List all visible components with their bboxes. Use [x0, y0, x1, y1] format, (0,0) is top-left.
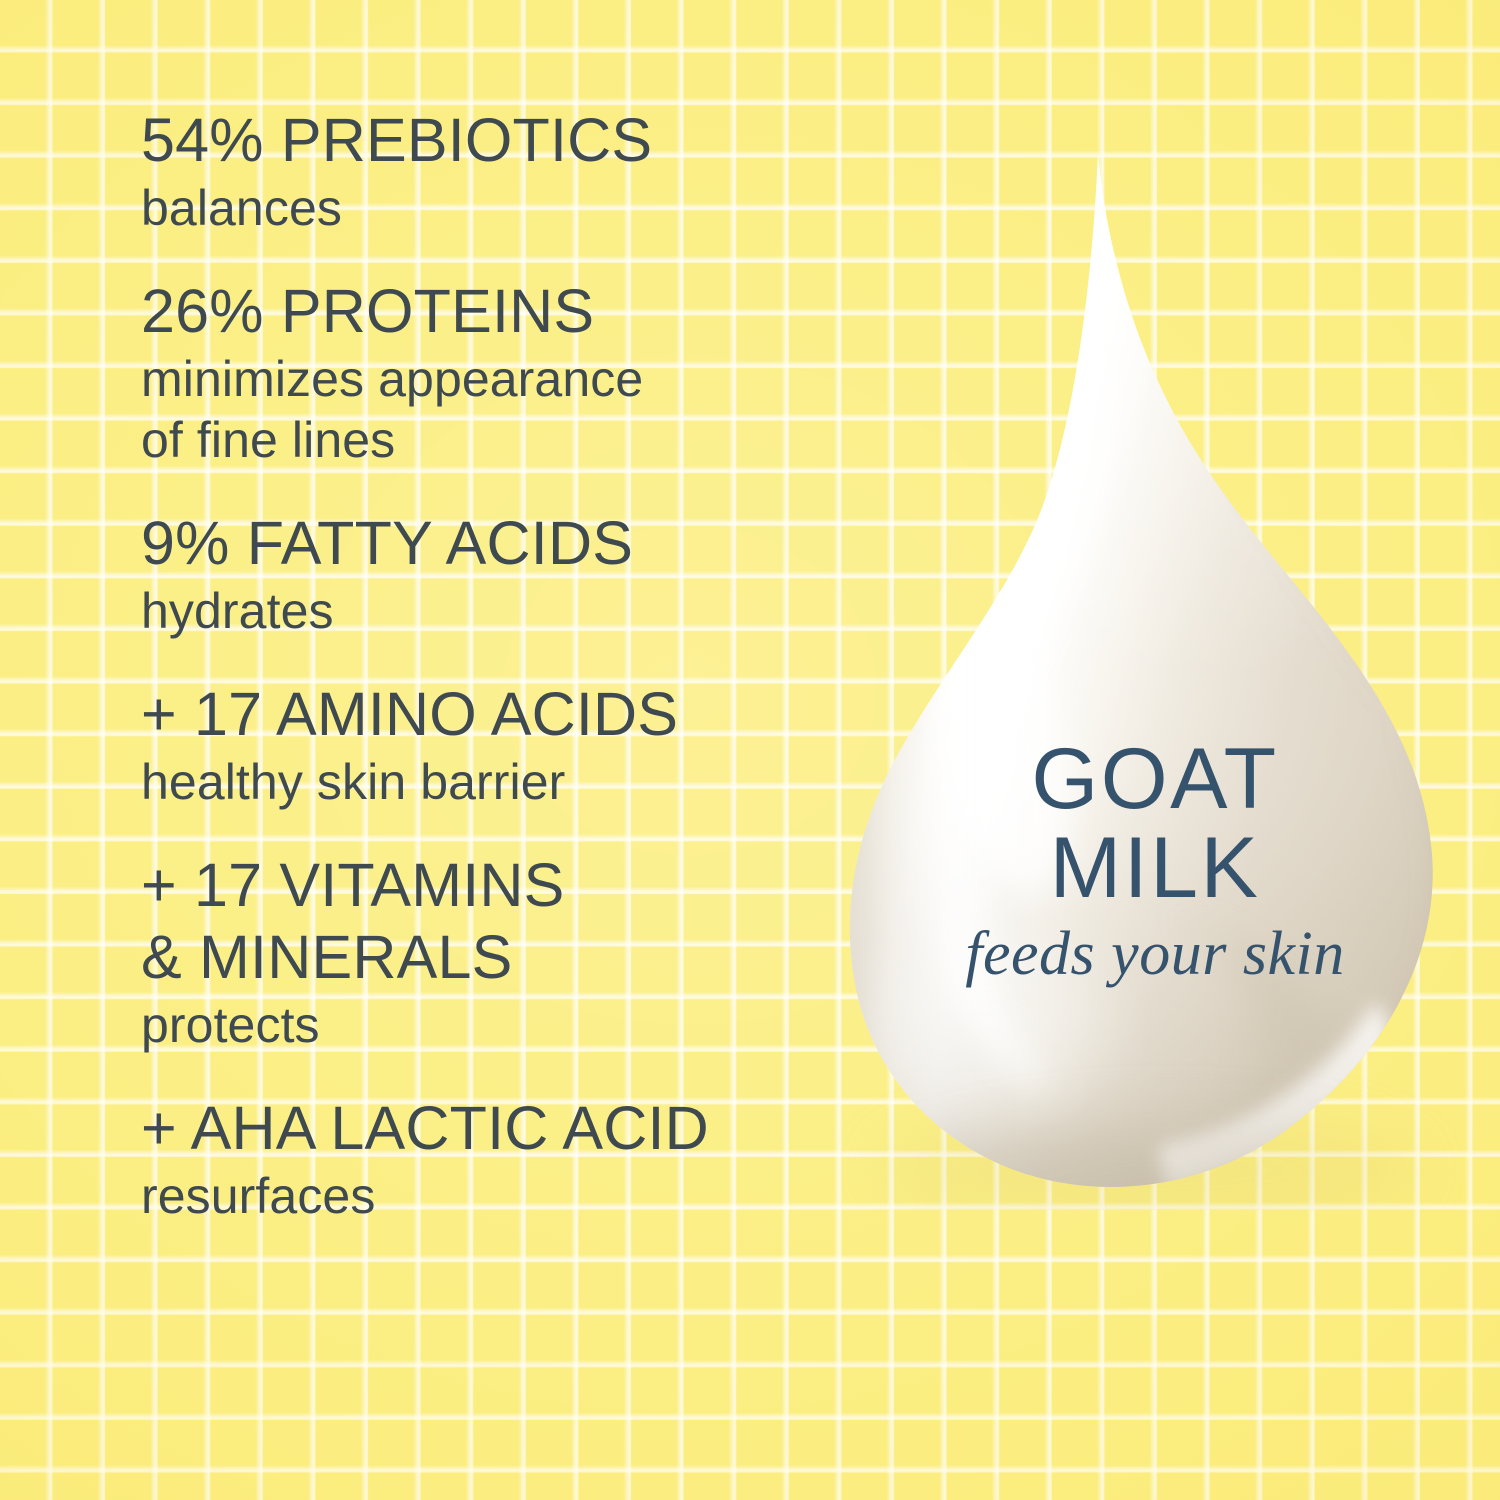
ingredient-benefit: resurfaces: [141, 1164, 841, 1227]
ingredient-headline: 54% PREBIOTICS: [141, 104, 841, 176]
ingredient-benefit: balances: [141, 176, 841, 239]
ingredient-headline: + 17 VITAMINS & MINERALS: [141, 849, 841, 993]
ingredient-item-proteins: 26% PROTEINS minimizes appearance of fin…: [141, 275, 841, 471]
ingredient-benefit: minimizes appearance of fine lines: [141, 347, 841, 471]
milk-droplet-icon: [836, 140, 1461, 1210]
ingredient-item-fatty-acids: 9% FATTY ACIDS hydrates: [141, 507, 841, 642]
goat-milk-ingredient-infographic: 54% PREBIOTICS balances 26% PROTEINS min…: [0, 0, 1500, 1500]
ingredient-item-amino-acids: + 17 AMINO ACIDS healthy skin barrier: [141, 678, 841, 813]
milk-droplet-illustration: [836, 140, 1461, 1210]
ingredient-headline: + 17 AMINO ACIDS: [141, 678, 841, 750]
droplet-left-edge-shade: [836, 580, 956, 1210]
ingredient-item-prebiotics: 54% PREBIOTICS balances: [141, 104, 841, 239]
ingredient-list: 54% PREBIOTICS balances 26% PROTEINS min…: [141, 104, 841, 1227]
ingredient-item-aha-lactic-acid: + AHA LACTIC ACID resurfaces: [141, 1092, 841, 1227]
ingredient-item-vitamins-minerals: + 17 VITAMINS & MINERALS protects: [141, 849, 841, 1056]
ingredient-headline: + AHA LACTIC ACID: [141, 1092, 841, 1164]
ingredient-headline: 9% FATTY ACIDS: [141, 507, 841, 579]
ingredient-benefit: protects: [141, 993, 841, 1056]
ingredient-benefit: hydrates: [141, 579, 841, 642]
ingredient-headline: 26% PROTEINS: [141, 275, 841, 347]
ingredient-benefit: healthy skin barrier: [141, 750, 841, 813]
